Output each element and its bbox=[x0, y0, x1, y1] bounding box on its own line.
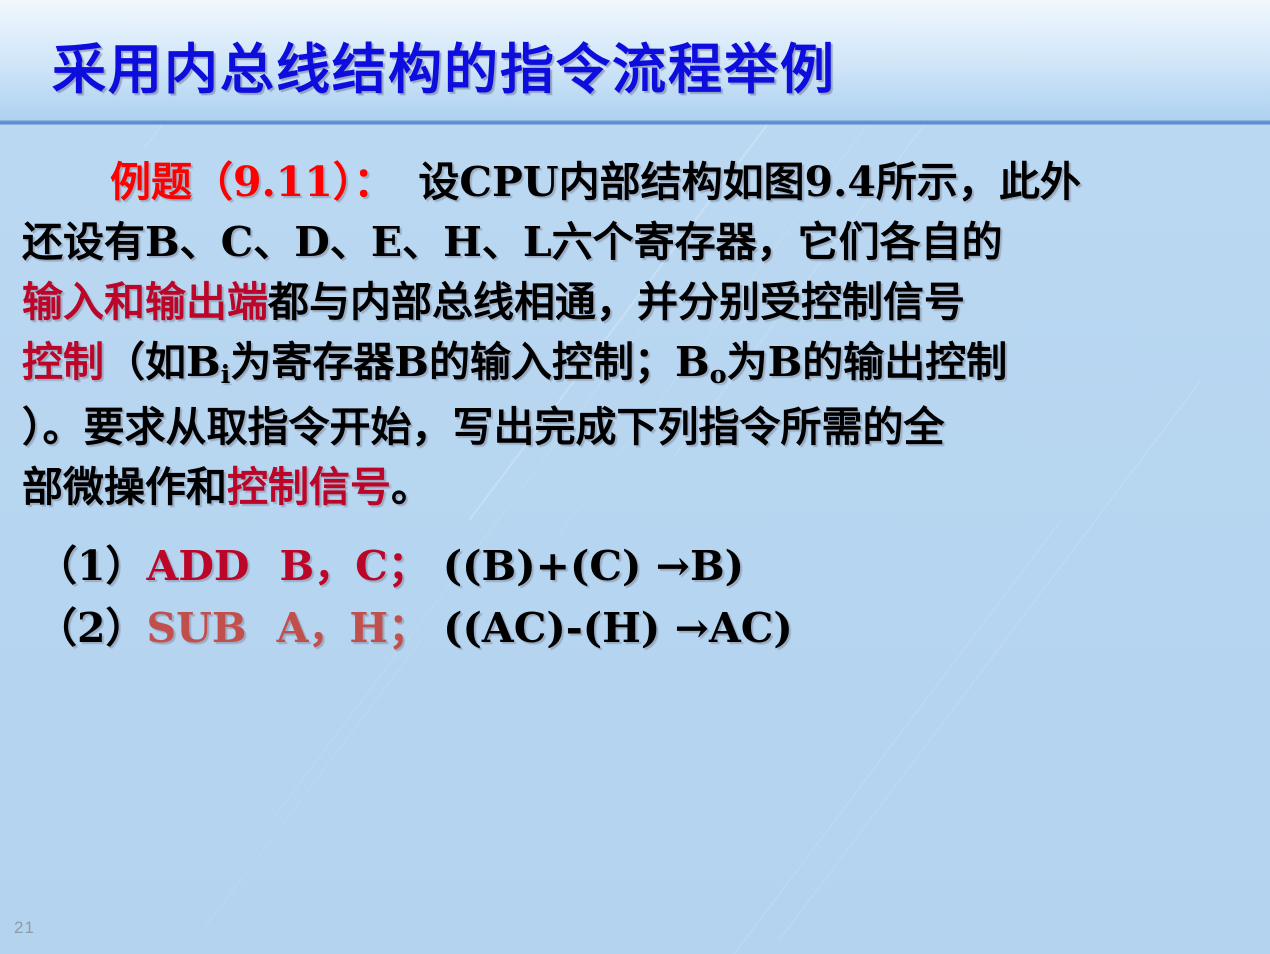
body-line-3: 输入和输出端都与内部总线相通，并分别受控制信号 bbox=[22, 272, 1237, 332]
body-line-6: 部微操作和控制信号。 bbox=[22, 457, 1237, 517]
subscript-bi: i bbox=[221, 359, 231, 389]
body-line-5: ）。要求从取指令开始，写出完成下列指令所需的全 bbox=[22, 397, 1237, 457]
instruction-1-effect: ((B)+(C) →B) bbox=[443, 542, 744, 590]
highlight-input-output-ports: 输入和输出端 bbox=[22, 278, 268, 326]
instruction-1-operands: B，C； bbox=[279, 542, 428, 590]
slide-canvas: 采用内总线结构的指令流程举例 例题（9.11）：设CPU内部结构如图9.4所示，… bbox=[0, 0, 1270, 954]
instruction-line-1: （1）ADDB，C；((B)+(C) →B) bbox=[22, 535, 1237, 597]
highlight-control-signal: 控制信号 bbox=[227, 463, 391, 511]
body-line-1-rest: 设CPU内部结构如图9.4所示，此外 bbox=[418, 158, 1081, 206]
body-line-4-b: 为寄存器B的输入控制；B bbox=[230, 338, 709, 386]
example-label: 例题（9.11）： bbox=[110, 158, 394, 206]
page-number: 21 bbox=[14, 918, 35, 938]
body-line-6-black: 部微操作和 bbox=[22, 463, 227, 511]
body-line-4: 控制（如Bi为寄存器B的输入控制；Bo为B的输出控制 bbox=[22, 332, 1237, 397]
instruction-2-mnemonic: SUB bbox=[147, 604, 247, 652]
instruction-1-mnemonic: ADD bbox=[147, 542, 250, 590]
instruction-2-effect: ((AC)-(H) →AC) bbox=[443, 604, 793, 652]
body-line-2-text: 还设有B、C、D、E、H、L六个寄存器，它们各自的 bbox=[22, 218, 1003, 266]
body-line-4-c: 为B的输出控制 bbox=[727, 338, 1008, 386]
header-divider-rule bbox=[0, 120, 1270, 125]
instruction-1-number: （1） bbox=[36, 542, 147, 590]
instruction-2-number: （2） bbox=[36, 604, 147, 652]
body-line-5-text: ）。要求从取指令开始，写出完成下列指令所需的全 bbox=[22, 403, 945, 451]
body-line-6-end: 。 bbox=[391, 463, 432, 511]
body-line-3-rest: 都与内部总线相通，并分别受控制信号 bbox=[268, 278, 965, 326]
instruction-2-operands: A，H； bbox=[277, 604, 430, 652]
subscript-bo: o bbox=[710, 359, 727, 389]
instruction-line-2: （2）SUBA，H；((AC)-(H) →AC) bbox=[22, 597, 1237, 659]
body-line-4-a: （如B bbox=[104, 338, 221, 386]
slide-body-text: 例题（9.11）：设CPU内部结构如图9.4所示，此外 还设有B、C、D、E、H… bbox=[22, 152, 1237, 659]
slide-title: 采用内总线结构的指令流程举例 bbox=[52, 38, 836, 100]
body-line-2: 还设有B、C、D、E、H、L六个寄存器，它们各自的 bbox=[22, 212, 1237, 272]
highlight-control: 控制 bbox=[22, 338, 104, 386]
body-line-1: 例题（9.11）：设CPU内部结构如图9.4所示，此外 bbox=[22, 152, 1237, 212]
